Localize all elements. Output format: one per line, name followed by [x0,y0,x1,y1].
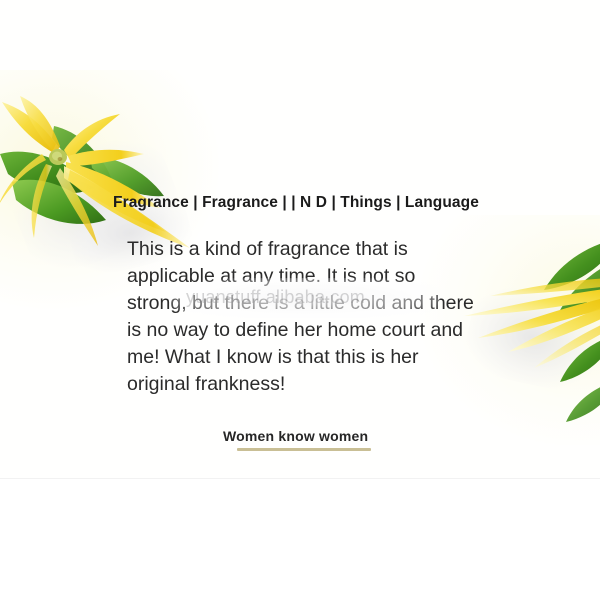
body-paragraph: This is a kind of fragrance that is appl… [127,236,477,398]
caption-label: Women know women [223,428,368,444]
decor-shadow-smudge [460,279,600,396]
caption-underline-rule [237,448,371,451]
product-description-canvas: Fragrance | Fragrance | | N D | Things |… [0,0,600,600]
content-sheet: Fragrance | Fragrance | | N D | Things |… [0,0,600,479]
sheet-bottom-divider [0,478,600,479]
ylang-ylang-petals-right-icon [462,232,600,422]
page-title: Fragrance | Fragrance | | N D | Things |… [113,194,479,212]
ylang-ylang-flower-left-icon [0,96,204,256]
